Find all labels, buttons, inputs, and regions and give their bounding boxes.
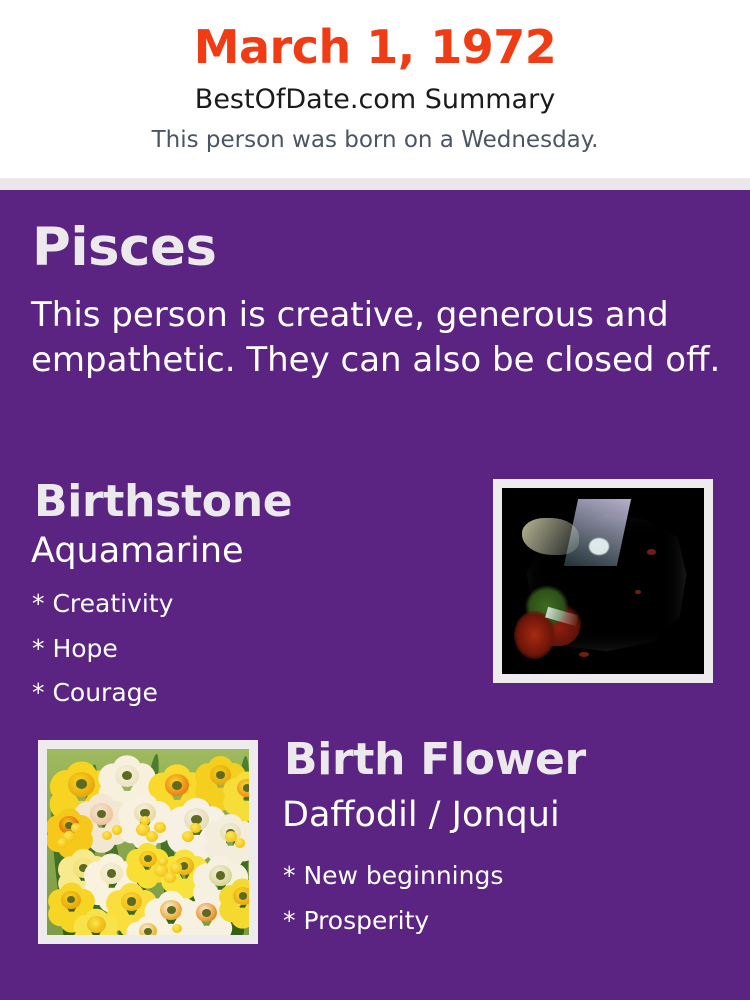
jonquil-cluster-floret	[112, 825, 122, 834]
jonquil-cluster-floret	[102, 831, 112, 840]
birthday-summary-poster: March 1, 1972 BestOfDate.com Summary Thi…	[0, 0, 750, 1000]
jonquil-cluster-floret	[190, 823, 200, 832]
list-item: * Courage	[32, 671, 462, 716]
list-item: * Prosperity	[283, 899, 723, 944]
birth-flower-name: Daffodil / Jonqui	[282, 796, 560, 835]
weekday-note: This person was born on a Wednesday.	[0, 128, 750, 153]
birth-flower-trait-list: * New beginnings * Prosperity	[283, 854, 723, 943]
birth-date-title: March 1, 1972	[0, 23, 750, 71]
flower-center	[202, 909, 211, 917]
site-summary-subtitle: BestOfDate.com Summary	[0, 85, 750, 115]
birthstone-heading: Birthstone	[34, 477, 292, 526]
jonquil-cluster-floret	[154, 822, 166, 833]
crystal-speck	[579, 652, 589, 658]
list-item: * Hope	[32, 627, 462, 672]
poster-header: March 1, 1972 BestOfDate.com Summary Thi…	[0, 0, 750, 178]
birthstone-name: Aquamarine	[31, 532, 244, 571]
flower-center	[216, 771, 225, 779]
flower-center	[144, 928, 151, 935]
aquamarine-crystal-image	[502, 488, 704, 674]
daffodil-bloom	[221, 875, 249, 916]
flower-center	[144, 855, 151, 862]
birth-flower-photo-frame	[38, 740, 258, 944]
jonquil-cluster-floret	[170, 862, 182, 873]
list-item: * Creativity	[32, 582, 462, 627]
daffodil-flowers-image	[47, 749, 249, 935]
flower-center	[239, 892, 247, 899]
crystal-facet-left	[522, 518, 579, 555]
jonquil-cluster-floret	[91, 920, 101, 929]
header-divider	[0, 178, 750, 190]
crystal-speck	[647, 549, 655, 555]
flower-center	[172, 781, 182, 790]
crystal-highlight	[589, 538, 609, 555]
jonquil-cluster-floret	[235, 838, 245, 847]
zodiac-sign-name: Pisces	[32, 218, 216, 279]
jonquil-cluster-floret	[71, 823, 81, 832]
birthstone-photo-frame	[493, 479, 713, 683]
flower-center	[243, 784, 249, 791]
flower-center	[127, 897, 136, 905]
jonquil-cluster-floret	[57, 838, 67, 847]
jonquil-cluster-floret	[146, 831, 158, 842]
birthstone-trait-list: * Creativity * Hope * Courage	[32, 582, 462, 716]
birth-flower-heading: Birth Flower	[284, 735, 586, 784]
flower-center	[167, 906, 176, 914]
zodiac-description: This person is creative, generous and em…	[31, 293, 721, 383]
list-item: * New beginnings	[283, 854, 723, 899]
